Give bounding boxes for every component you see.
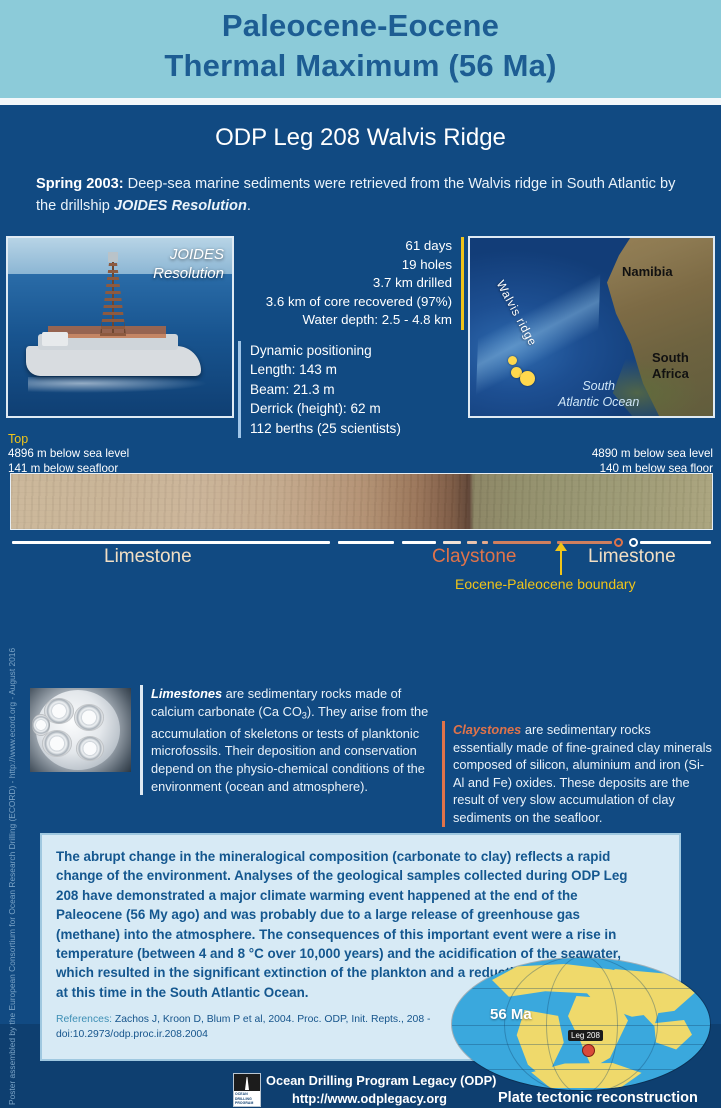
globe-age-label: 56 Ma xyxy=(490,1006,532,1023)
claystone-term: Claystones xyxy=(453,722,521,737)
joides-resolution-photo: JOIDES Resolution xyxy=(6,236,234,418)
rule-segment xyxy=(12,541,330,544)
rule-segment xyxy=(467,541,477,544)
globe-caption: Plate tectonic reconstruction xyxy=(498,1090,698,1106)
derrick-crown xyxy=(108,252,118,262)
claystone-description: Claystones are sedimentary rocks essenti… xyxy=(442,721,714,827)
intro-paragraph: Spring 2003: Deep-sea marine sediments w… xyxy=(36,173,691,217)
header-divider xyxy=(0,98,721,105)
map-label-south-africa-line2: Africa xyxy=(652,366,689,382)
spec-item: Dynamic positioning xyxy=(250,341,464,360)
map-label-ocean: South Atlantic Ocean xyxy=(558,378,639,410)
poster-body: ODP Leg 208 Walvis Ridge Spring 2003: De… xyxy=(0,105,721,1024)
stat-item: Water depth: 2.5 - 4.8 km xyxy=(246,311,452,330)
photo-ship-bridge xyxy=(42,332,68,346)
core-right-depth-line1: 4890 m below sea level xyxy=(592,446,713,461)
core-left-depth: 4896 m below sea level 141 m below seafl… xyxy=(8,446,129,476)
drill-site-marker xyxy=(520,371,535,386)
stat-item: 3.7 km drilled xyxy=(246,274,452,293)
rule-segment xyxy=(482,541,488,544)
footer-org: Ocean Drilling Program Legacy (ODP) xyxy=(266,1072,496,1090)
stat-item: 19 holes xyxy=(246,256,452,275)
ship-specs-list: Dynamic positioning Length: 143 m Beam: … xyxy=(238,341,464,438)
spec-item: Beam: 21.3 m xyxy=(250,380,464,399)
rule-segment xyxy=(443,541,461,544)
side-credit-text: Poster assembled by the European Consort… xyxy=(7,705,17,1105)
map-label-namibia: Namibia xyxy=(622,264,673,279)
poster-header: Paleocene-Eocene Thermal Maximum (56 Ma) xyxy=(0,0,721,98)
footer-url[interactable]: http://www.odplegacy.org xyxy=(266,1090,496,1108)
claystone-body: are sedimentary rocks essentially made o… xyxy=(453,722,712,825)
map-label-south-africa: South Africa xyxy=(652,350,689,382)
coccolith-disc xyxy=(74,704,104,731)
odp-logo: OCEAN DRILLING PROGRAM xyxy=(233,1073,261,1107)
intro-lead: Spring 2003: xyxy=(36,176,124,192)
stat-item: 61 days xyxy=(246,237,452,256)
globe-leg-tag: Leg 208 xyxy=(568,1030,603,1041)
core-right-depth: 4890 m below sea level 140 m below sea f… xyxy=(592,446,713,476)
label-limestone-right: Limestone xyxy=(588,546,676,568)
photo-ship-hull xyxy=(26,346,201,376)
coccolith-disc xyxy=(42,730,72,757)
stat-item: 3.6 km of core recovered (97%) xyxy=(246,293,452,312)
ship-caption-line-1: JOIDES xyxy=(153,245,224,264)
page-title: Paleocene-Eocene Thermal Maximum (56 Ma) xyxy=(0,6,721,86)
globe-graticule xyxy=(452,1044,710,1070)
coccolithophore-micrograph xyxy=(30,688,131,772)
map-label-ocean-line2: Atlantic Ocean xyxy=(558,394,639,410)
sediment-core-strip xyxy=(10,473,713,530)
rule-segment xyxy=(640,541,711,544)
map-label-ocean-line1: South xyxy=(558,378,639,394)
limestone-term: Limestones xyxy=(151,686,222,701)
rule-segment xyxy=(338,541,394,544)
rule-segment xyxy=(402,541,436,544)
label-eocene-paleocene-boundary: Eocene-Paleocene boundary xyxy=(455,576,636,592)
photo-wake xyxy=(28,377,208,393)
rule-segment xyxy=(493,541,551,544)
core-texture-overlay xyxy=(11,474,712,529)
references-body: Zachos J, Kroon D, Blum P et al, 2004. P… xyxy=(56,1014,430,1040)
map-label-south-africa-line1: South xyxy=(652,350,689,366)
title-line-2: Thermal Maximum (56 Ma) xyxy=(0,46,721,86)
spec-item: 112 berths (25 scientists) xyxy=(250,419,464,438)
label-claystone: Claystone xyxy=(432,546,517,568)
limestone-description: Limestones are sedimentary rocks made of… xyxy=(140,685,432,795)
title-line-1: Paleocene-Eocene xyxy=(0,6,721,46)
boundary-pointer-arrow-icon xyxy=(555,542,567,551)
intro-text-after: . xyxy=(247,198,251,214)
expedition-stats-list: 61 days 19 holes 3.7 km drilled 3.6 km o… xyxy=(246,237,464,330)
coccolith-disc xyxy=(32,714,50,736)
references-label: References: xyxy=(56,1014,112,1025)
walvis-ridge-location-map: Walvis ridge Namibia South Africa South … xyxy=(468,236,715,418)
footer-credit: Ocean Drilling Program Legacy (ODP) http… xyxy=(266,1072,496,1108)
spec-item: Derrick (height): 62 m xyxy=(250,399,464,418)
expedition-subtitle: ODP Leg 208 Walvis Ridge xyxy=(0,123,721,153)
label-limestone-left: Limestone xyxy=(104,546,192,568)
ship-photo-caption: JOIDES Resolution xyxy=(153,245,224,283)
intro-ship-name: JOIDES Resolution xyxy=(114,198,247,214)
spec-item: Length: 143 m xyxy=(250,360,464,379)
odp-logo-text: OCEAN DRILLING PROGRAM xyxy=(235,1092,261,1105)
coccolith-disc xyxy=(76,736,104,761)
globe-leg-site-marker xyxy=(582,1044,595,1057)
ship-caption-line-2: Resolution xyxy=(153,264,224,283)
drill-site-marker xyxy=(508,356,517,365)
paleogeographic-globe: 56 Ma Leg 208 xyxy=(452,958,710,1090)
core-top-label: Top xyxy=(8,432,28,446)
core-left-depth-line1: 4896 m below sea level xyxy=(8,446,129,461)
